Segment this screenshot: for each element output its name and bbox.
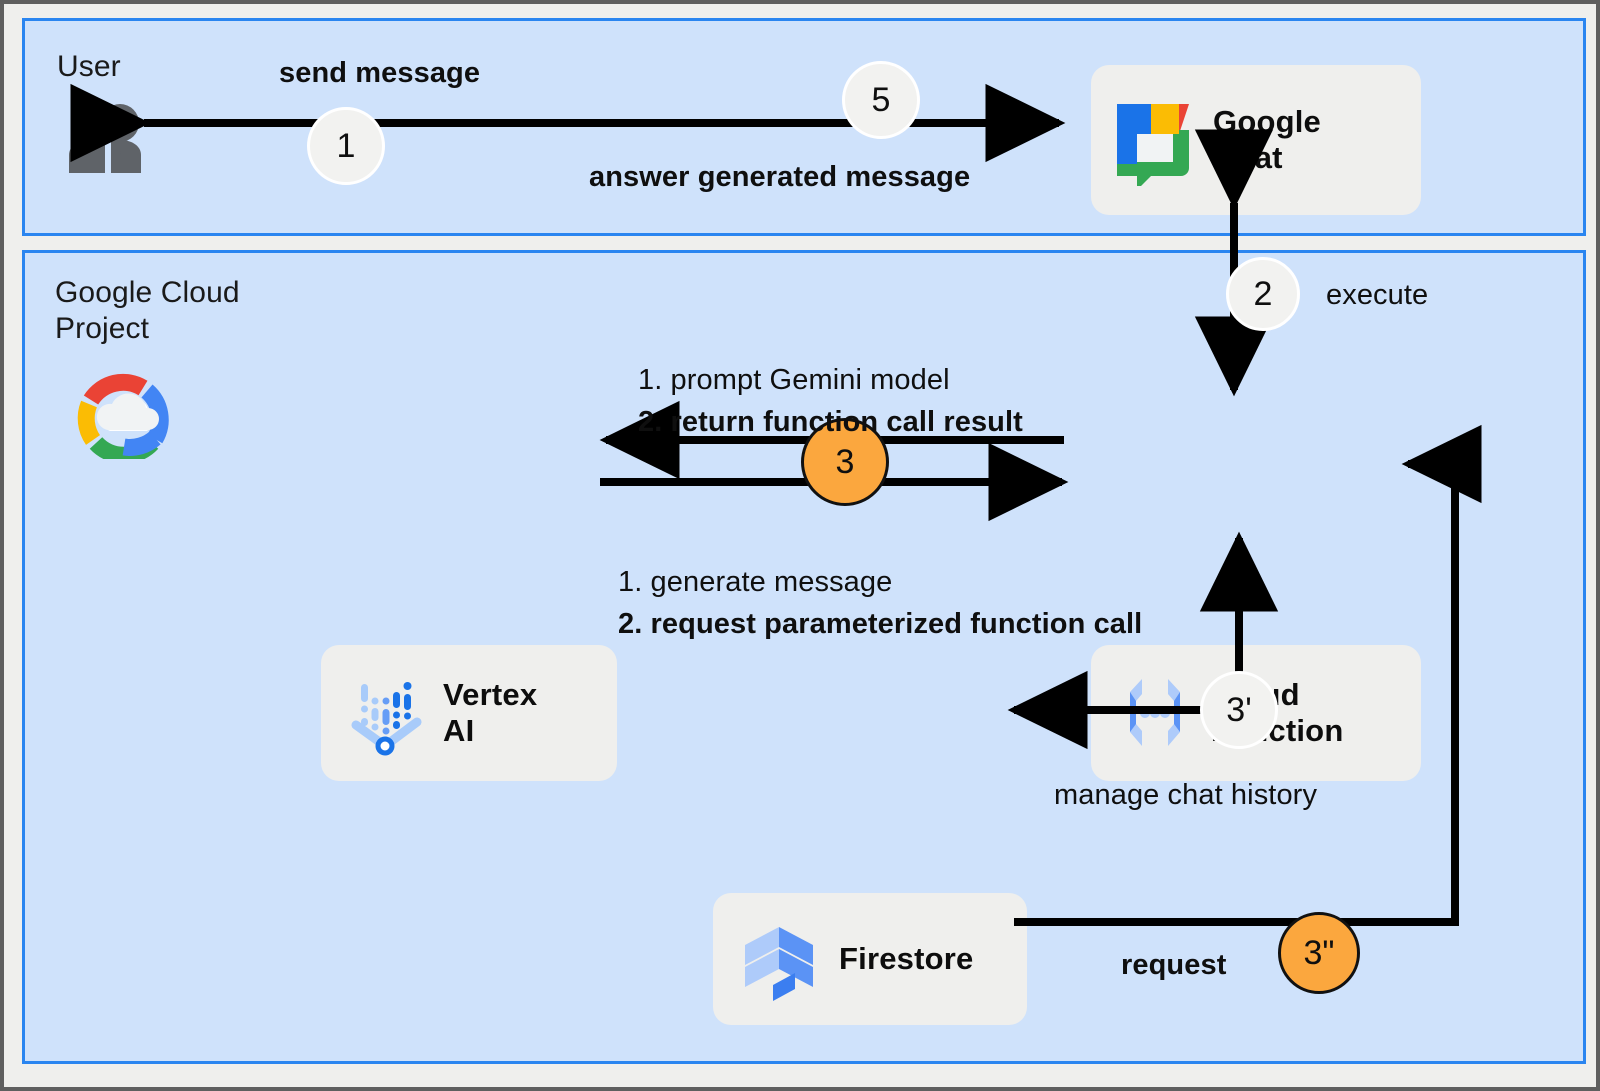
card-google-chat-label: Google Chat <box>1213 104 1321 175</box>
label-request: request <box>1121 944 1226 986</box>
step-badge-5: 5 <box>842 61 920 139</box>
users-icon <box>63 103 155 175</box>
label-vertex-outbound: 1. generate message 2. request parameter… <box>618 519 1142 687</box>
panel-google-cloud-label: Google Cloud Project <box>55 275 240 347</box>
label-vertex-inbound: 1. prompt Gemini model 2. return functio… <box>638 317 1023 485</box>
step-badge-3-prime: 3' <box>1200 671 1278 749</box>
label-vertex-inbound-line1: 1. prompt Gemini model <box>638 364 950 396</box>
panel-user-label: User <box>57 49 121 85</box>
card-google-chat[interactable]: Google Chat <box>1091 65 1421 215</box>
label-vertex-inbound-line2: 2. return function call result <box>638 401 1023 443</box>
label-send-message: send message <box>279 52 480 94</box>
label-execute: execute <box>1326 274 1428 316</box>
step-badge-3-double-prime: 3" <box>1278 912 1360 994</box>
card-firestore[interactable]: Firestore <box>713 893 1027 1025</box>
step-badge-1: 1 <box>307 107 385 185</box>
panel-user: User <box>22 18 1586 236</box>
label-answer-generated-message: answer generated message <box>589 156 970 198</box>
google-chat-icon <box>1107 94 1199 186</box>
label-vertex-outbound-line1: 1. generate message <box>618 566 892 598</box>
card-firestore-label: Firestore <box>839 941 973 977</box>
vertex-ai-icon <box>345 670 431 756</box>
card-vertex-ai-label: Vertex AI <box>443 677 537 748</box>
step-badge-2: 2 <box>1226 257 1300 331</box>
card-vertex-ai[interactable]: Vertex AI <box>321 645 617 781</box>
diagram-canvas: User <box>0 0 1600 1091</box>
google-cloud-icon <box>69 367 179 459</box>
label-vertex-outbound-line2: 2. request parameterized function call <box>618 603 1142 645</box>
label-manage-chat-history: manage chat history <box>1054 774 1317 816</box>
firestore-icon <box>737 917 821 1001</box>
